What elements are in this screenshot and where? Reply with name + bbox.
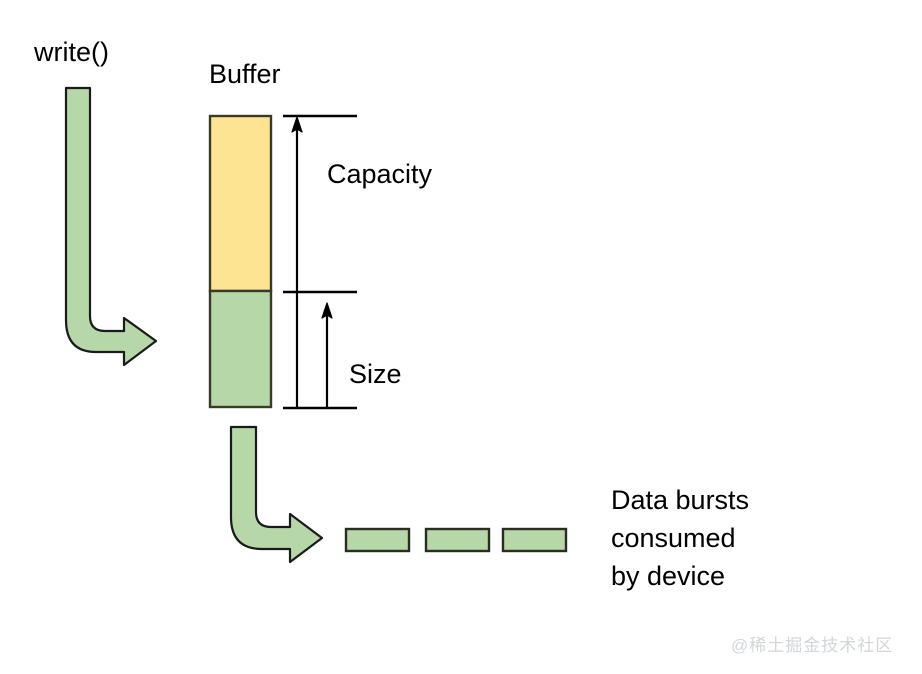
data-bursts-caption-line2: consumed <box>611 523 736 553</box>
buffer-free-region <box>210 116 271 291</box>
diagram-canvas: write() Buffer Capacity Size Data bursts… <box>0 0 922 674</box>
capacity-label: Capacity <box>327 158 432 190</box>
data-bursts-caption-line3: by device <box>611 561 725 591</box>
write-call-label: write() <box>34 36 109 68</box>
watermark-text: @稀土掘金技术社区 <box>731 631 893 656</box>
size-label: Size <box>349 358 402 390</box>
write-to-buffer-arrow <box>66 88 156 365</box>
data-bursts-caption-line1: Data bursts <box>611 485 749 515</box>
data-burst-block <box>346 529 409 551</box>
data-burst-block <box>426 529 489 551</box>
buffer-label: Buffer <box>209 58 281 90</box>
diagram-graphics <box>0 0 922 674</box>
data-bursts-caption: Data burstsconsumedby device <box>611 481 749 595</box>
buffer-to-device-arrow <box>231 427 322 562</box>
buffer-used-region <box>210 291 271 407</box>
data-burst-block <box>503 529 566 551</box>
